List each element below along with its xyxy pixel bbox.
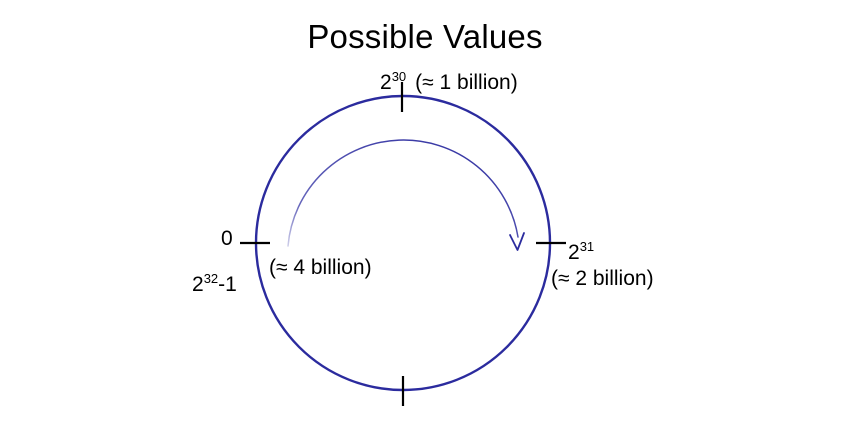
label-right-base: 2 — [568, 241, 580, 264]
clockwise-direction-arrow — [288, 140, 518, 246]
label-right-approx: (≈ 2 billion) — [551, 266, 654, 291]
label-inner-approx-4-billion: (≈ 4 billion) — [269, 255, 372, 280]
label-left-max-base: 2 — [192, 273, 204, 296]
label-left-2-pow-32-minus-1: 232-1 — [192, 272, 237, 297]
label-top-approx: (≈ 1 billion) — [415, 71, 518, 94]
label-top-exponent: 30 — [392, 69, 406, 84]
label-left-max-exponent: 32 — [204, 271, 218, 286]
label-top-base: 2 — [380, 71, 392, 94]
label-top-2-pow-30: 230(≈ 1 billion) — [380, 70, 518, 95]
label-left-zero: 0 — [221, 226, 233, 251]
label-right-2-pow-31: 231 — [568, 240, 594, 265]
number-circle-diagram — [0, 0, 850, 437]
label-left-max-suffix: -1 — [218, 273, 237, 296]
label-right-exponent: 31 — [580, 239, 594, 254]
slide-canvas: Possible Values 230(≈ 1 billion) 231 (≈ … — [0, 0, 850, 437]
